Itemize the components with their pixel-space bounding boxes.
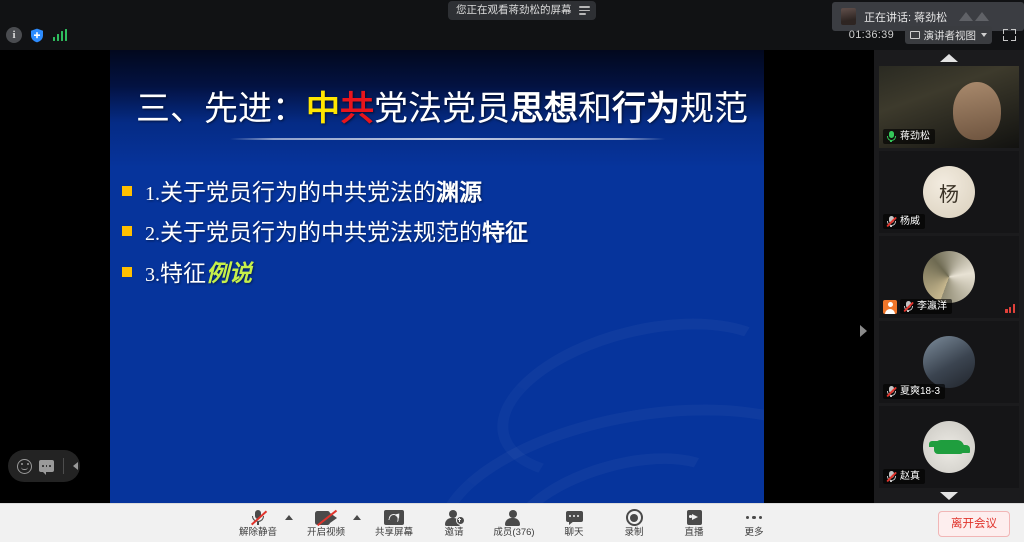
avatar: [923, 336, 975, 388]
microphone-muted-icon: [886, 471, 896, 483]
toolbar-button-label: 更多: [744, 527, 763, 538]
bullet-text: 3.特征例说: [145, 259, 252, 289]
participant-nametag: 李瀛洋: [900, 299, 952, 314]
speaking-label: 正在讲话: 蒋劲松: [864, 9, 947, 25]
microphone-muted-icon: [886, 216, 896, 228]
toolbar-button-label: 邀请: [444, 527, 463, 538]
viewing-screen-label: 您正在观看蒋劲松的屏幕: [456, 1, 572, 20]
microphone-muted-icon: [903, 301, 913, 313]
avatar: [923, 251, 975, 303]
record-icon: [626, 509, 643, 526]
bullet-square-icon: [122, 186, 132, 196]
hamburger-icon[interactable]: [579, 5, 590, 16]
participants-icon: [505, 509, 524, 526]
network-quality-icon: [1005, 303, 1015, 313]
title-underline: [230, 138, 665, 140]
screen-icon: [910, 31, 920, 39]
participant-name: 李瀛洋: [917, 300, 947, 313]
bullet-lead-text: 特征: [160, 261, 206, 286]
participant-tile[interactable]: 蒋劲松: [879, 66, 1019, 148]
slide-bullet-list: 1.关于党员行为的中共党法的渊源2.关于党员行为的中共党法规范的特征3.特征例说: [122, 178, 742, 299]
chevron-down-icon: [981, 33, 987, 37]
slide-bullet: 3.特征例说: [122, 259, 742, 289]
live-icon: [687, 509, 702, 526]
toolbar-button-label: 解除静音: [239, 527, 277, 538]
view-mode-label: 演讲者视图: [924, 28, 977, 43]
slide-title-part: 共: [340, 89, 374, 129]
toolbar-button[interactable]: 录制: [604, 504, 664, 542]
bullet-emphasis-text: 渊源: [436, 180, 482, 206]
toolbar-button[interactable]: 更多: [724, 504, 784, 542]
slide-title-part: 党法党员: [374, 91, 510, 128]
toolbar-button[interactable]: 直播: [664, 504, 724, 542]
participant-tile[interactable]: 杨杨威: [879, 151, 1019, 233]
presentation-slide: 三、先进：中共党法党员思想和行为规范 1.关于党员行为的中共党法的渊源2.关于党…: [110, 50, 764, 503]
toolbar-buttons: 解除静音开启视频共享屏幕邀请成员(376)聊天录制直播更多: [228, 504, 784, 542]
toolbar-button-label: 共享屏幕: [375, 527, 413, 538]
share-screen-icon: [384, 509, 404, 526]
shared-screen-stage: 三、先进：中共党法党员思想和行为规范 1.关于党员行为的中共党法的渊源2.关于党…: [0, 50, 874, 503]
participant-name: 赵真: [900, 470, 920, 483]
participant-name: 蒋劲松: [900, 130, 930, 143]
fullscreen-icon[interactable]: [1003, 29, 1016, 41]
participant-tiles: 蒋劲松杨杨威李瀛洋夏爽18-3赵真: [879, 66, 1019, 491]
leave-meeting-button[interactable]: 离开会议: [938, 511, 1010, 537]
meeting-toolbar: 解除静音开启视频共享屏幕邀请成员(376)聊天录制直播更多 离开会议: [0, 503, 1024, 542]
bullet-emphasis-text: 特征: [482, 220, 528, 246]
toolbar-button-label: 成员(376): [493, 527, 534, 538]
participant-nametag: 赵真: [883, 469, 925, 484]
chat-icon: [566, 509, 583, 526]
bullet-number: 3.: [145, 264, 160, 286]
slide-title: 三、先进：中共党法党员思想和行为规范: [132, 90, 752, 129]
mic-muted-icon: [251, 509, 265, 526]
bullet-square-icon: [122, 267, 132, 277]
audio-wave-icon: [959, 12, 989, 21]
slide-title-part: 三、先进：: [136, 91, 306, 128]
triangle-up-icon[interactable]: [940, 54, 958, 62]
invite-person-icon: [445, 509, 464, 526]
avatar: 杨: [923, 166, 975, 218]
reactions-toolbar[interactable]: [8, 450, 80, 482]
avatar: [923, 421, 975, 473]
speaker-thumbnail: [841, 8, 856, 25]
chevron-left-icon[interactable]: [73, 462, 78, 470]
bullet-text: 2.关于党员行为的中共党法规范的特征: [145, 218, 528, 248]
bullet-number: 1.: [145, 183, 160, 205]
participant-nametag: 蒋劲松: [883, 129, 935, 144]
toolbar-button-label: 录制: [624, 527, 643, 538]
participant-filmstrip: 蒋劲松杨杨威李瀛洋夏爽18-3赵真: [874, 50, 1024, 503]
participant-nametag: 夏爽18-3: [883, 384, 945, 399]
chevron-right-icon[interactable]: [860, 325, 867, 337]
toolbar-button-label: 直播: [684, 527, 703, 538]
bullet-lead-text: 关于党员行为的中共党法的: [160, 180, 436, 205]
slide-title-part: 思想: [510, 89, 578, 129]
avatar-image: [934, 440, 964, 454]
participant-nametag: 杨威: [883, 214, 925, 229]
slide-bullet: 2.关于党员行为的中共党法规范的特征: [122, 218, 742, 248]
triangle-down-icon[interactable]: [940, 492, 958, 500]
top-bar: 您正在观看蒋劲松的屏幕 i 正在讲话: 蒋劲松 01:36:39 演讲者视图: [0, 0, 1024, 50]
toolbar-button[interactable]: 邀请: [424, 504, 484, 542]
slide-title-part: 和: [578, 91, 612, 128]
bullet-lead-text: 关于党员行为的中共党法规范的: [160, 220, 482, 245]
bullet-emphasis-text: 例说: [206, 261, 252, 287]
toolbar-options-caret[interactable]: [288, 504, 296, 542]
chat-bubble-icon[interactable]: [39, 460, 54, 472]
participant-tile[interactable]: 李瀛洋: [879, 236, 1019, 318]
more-dots-icon: [746, 509, 763, 526]
host-badge: [883, 300, 897, 314]
meeting-timer: 01:36:39: [849, 29, 894, 41]
toolbar-button-label: 聊天: [564, 527, 583, 538]
participant-tile[interactable]: 赵真: [879, 406, 1019, 488]
bullet-square-icon: [122, 226, 132, 236]
zoom-meeting-window: 您正在观看蒋劲松的屏幕 i 正在讲话: 蒋劲松 01:36:39 演讲者视图: [0, 0, 1024, 542]
toolbar-button[interactable]: 解除静音: [228, 504, 288, 542]
slide-title-part: 规范: [680, 91, 748, 128]
smiley-icon[interactable]: [17, 459, 32, 474]
viewing-screen-banner[interactable]: 您正在观看蒋劲松的屏幕: [448, 1, 596, 20]
camera-off-icon: [315, 509, 337, 526]
participant-tile[interactable]: 夏爽18-3: [879, 321, 1019, 403]
slide-title-part: 行为: [612, 89, 680, 129]
signal-bars-icon[interactable]: [52, 29, 68, 41]
participant-name: 杨威: [900, 215, 920, 228]
microphone-on-icon: [886, 131, 896, 143]
slide-title-part: 中: [306, 89, 340, 129]
participant-name: 夏爽18-3: [900, 385, 940, 398]
view-mode-selector[interactable]: 演讲者视图: [905, 26, 993, 44]
toolbar-button[interactable]: 聊天: [544, 504, 604, 542]
status-icon-group: i: [6, 27, 68, 43]
toolbar-button[interactable]: 共享屏幕: [364, 504, 424, 542]
slide-bullet: 1.关于党员行为的中共党法的渊源: [122, 178, 742, 208]
bullet-number: 2.: [145, 223, 160, 245]
info-icon[interactable]: i: [6, 27, 22, 43]
toolbar-button[interactable]: 开启视频: [296, 504, 356, 542]
toolbar-options-caret[interactable]: [356, 504, 364, 542]
divider: [63, 458, 64, 474]
participant-face: [953, 82, 1001, 140]
shield-icon[interactable]: [29, 27, 45, 43]
toolbar-button-label: 开启视频: [307, 527, 345, 538]
microphone-muted-icon: [886, 386, 896, 398]
toolbar-button[interactable]: 成员(376): [484, 504, 544, 542]
bullet-text: 1.关于党员行为的中共党法的渊源: [145, 178, 482, 208]
